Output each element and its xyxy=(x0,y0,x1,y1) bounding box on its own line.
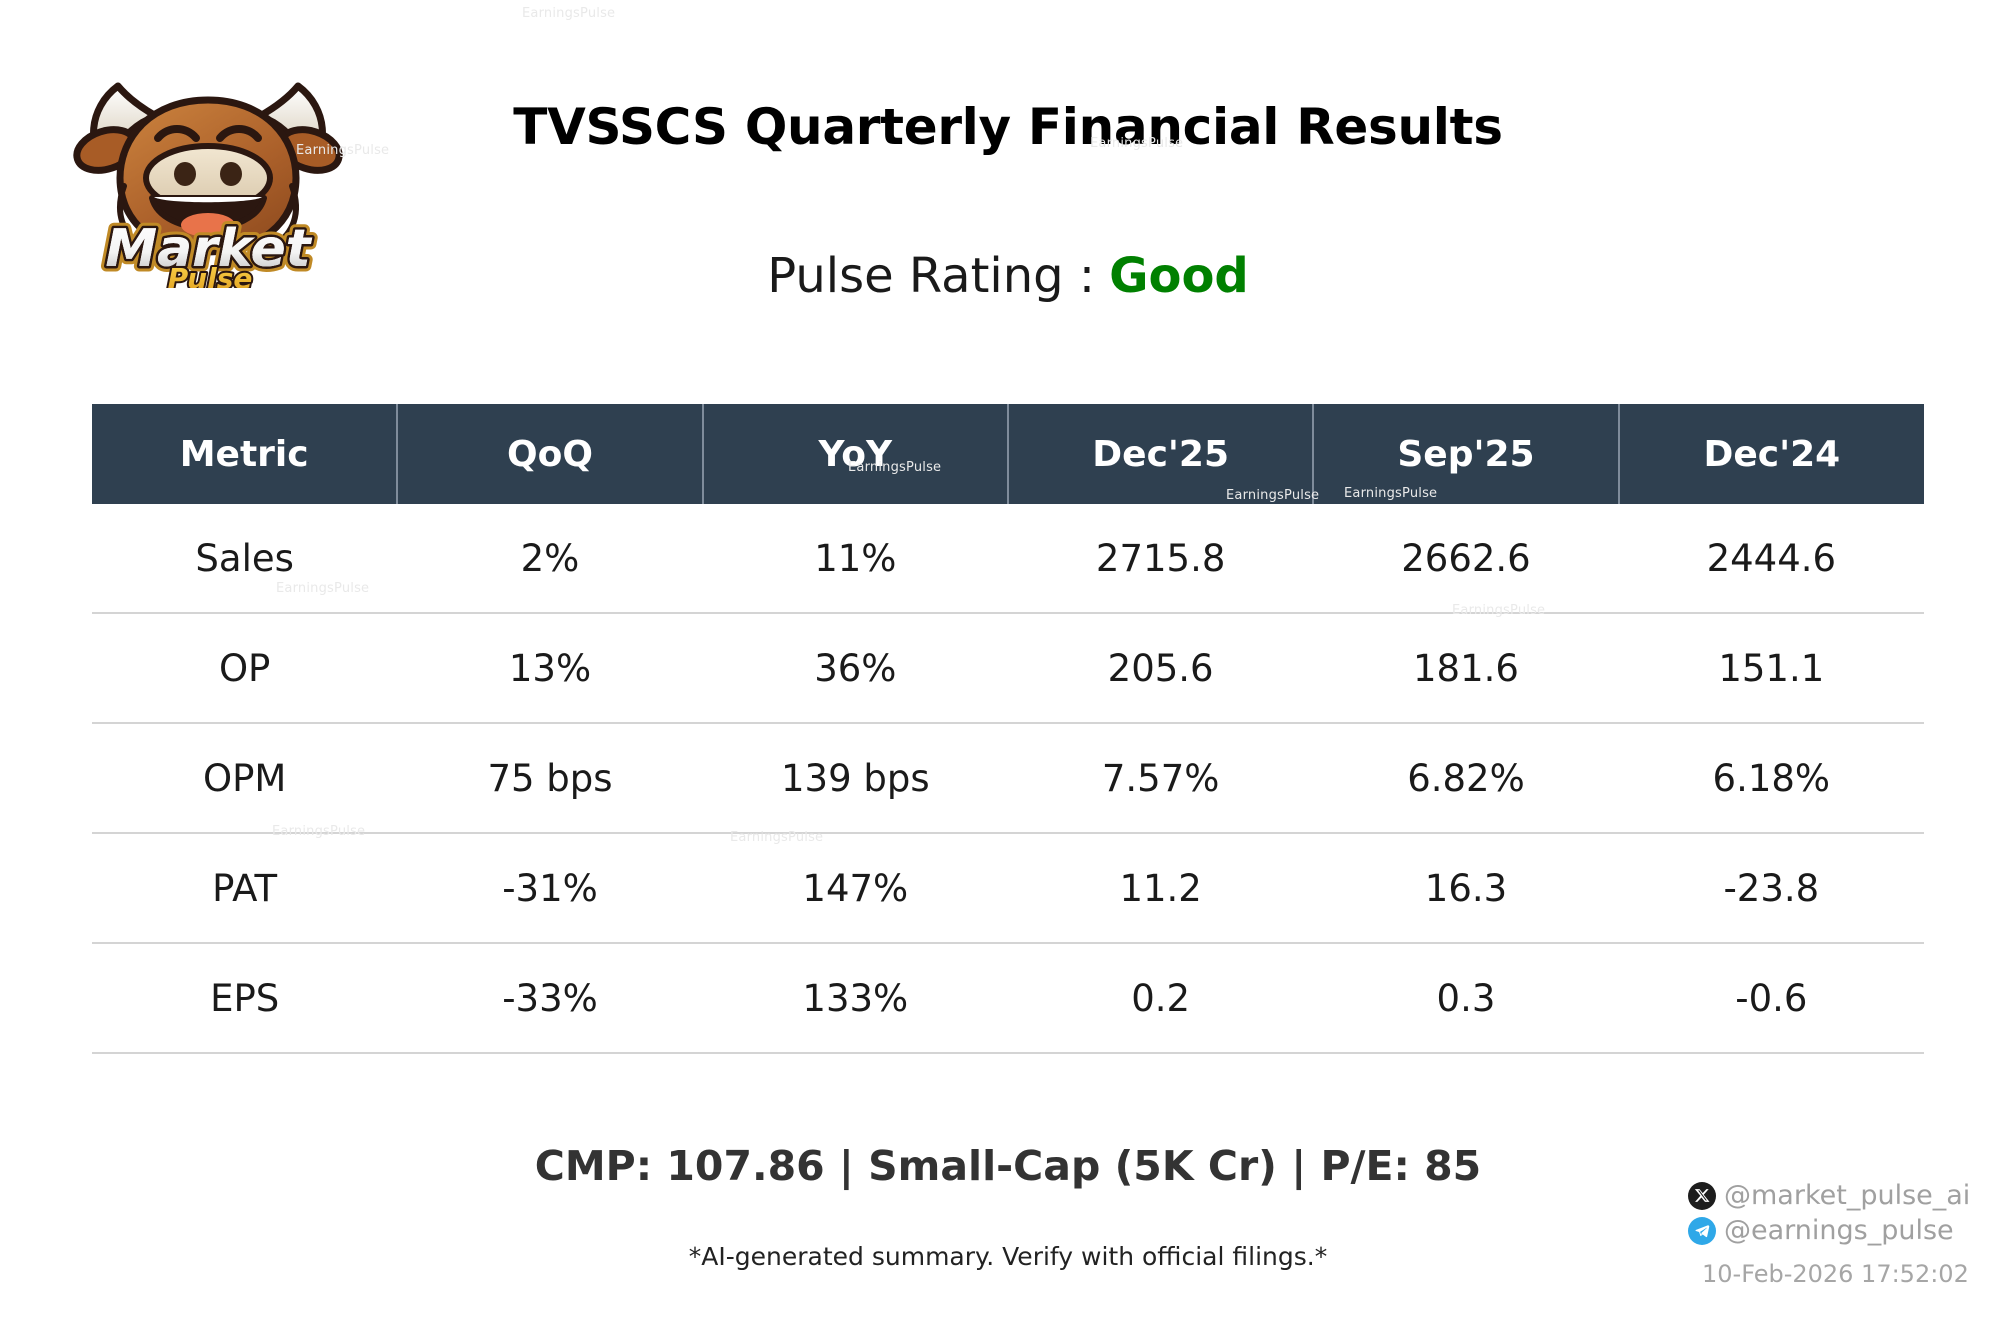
cell-qoq: -31% xyxy=(397,833,702,943)
cell-dec24: 2444.6 xyxy=(1619,504,1924,613)
cell-sep25: 16.3 xyxy=(1313,833,1618,943)
social-block: @market_pulse_ai @earnings_pulse 10-Feb-… xyxy=(1688,1178,1988,1288)
cell-sep25: 6.82% xyxy=(1313,723,1618,833)
table-row: OPM 75 bps 139 bps 7.57% 6.82% 6.18% xyxy=(92,723,1924,833)
metric-label: OP xyxy=(92,613,397,723)
watermark-text: EarningsPulse xyxy=(522,6,615,21)
cell-dec24: -0.6 xyxy=(1619,943,1924,1053)
cell-qoq: 75 bps xyxy=(397,723,702,833)
column-header-qoq: QoQ xyxy=(397,404,702,504)
cell-yoy: 11% xyxy=(703,504,1008,613)
cell-qoq: 13% xyxy=(397,613,702,723)
pulse-rating: Pulse Rating :Good xyxy=(0,248,2016,304)
cell-sep25: 181.6 xyxy=(1313,613,1618,723)
social-row-x[interactable]: @market_pulse_ai xyxy=(1688,1178,1988,1213)
metric-label: Sales xyxy=(92,504,397,613)
cell-dec24: 6.18% xyxy=(1619,723,1924,833)
cell-dec25: 2715.8 xyxy=(1008,504,1313,613)
metric-label: OPM xyxy=(92,723,397,833)
cell-yoy: 36% xyxy=(703,613,1008,723)
cell-dec25: 11.2 xyxy=(1008,833,1313,943)
cell-dec25: 7.57% xyxy=(1008,723,1313,833)
metric-label: EPS xyxy=(92,943,397,1053)
telegram-icon xyxy=(1688,1217,1716,1245)
financial-table: Metric QoQ YoY Dec'25 Sep'25 Dec'24 Sale… xyxy=(92,404,1924,1054)
x-twitter-icon xyxy=(1688,1182,1716,1210)
cell-yoy: 147% xyxy=(703,833,1008,943)
cell-dec25: 0.2 xyxy=(1008,943,1313,1053)
cell-yoy: 139 bps xyxy=(703,723,1008,833)
table-row: Sales 2% 11% 2715.8 2662.6 2444.6 xyxy=(92,504,1924,613)
social-handle-telegram: @earnings_pulse xyxy=(1724,1217,1954,1244)
pulse-rating-label: Pulse Rating : xyxy=(767,248,1095,304)
pulse-rating-value: Good xyxy=(1109,248,1249,304)
column-header-yoy: YoY xyxy=(703,404,1008,504)
social-row-telegram[interactable]: @earnings_pulse xyxy=(1688,1213,1988,1248)
cell-yoy: 133% xyxy=(703,943,1008,1053)
cell-sep25: 0.3 xyxy=(1313,943,1618,1053)
cell-sep25: 2662.6 xyxy=(1313,504,1618,613)
cell-qoq: -33% xyxy=(397,943,702,1053)
table-header-row: Metric QoQ YoY Dec'25 Sep'25 Dec'24 xyxy=(92,404,1924,504)
column-header-dec24: Dec'24 xyxy=(1619,404,1924,504)
cell-qoq: 2% xyxy=(397,504,702,613)
column-header-metric: Metric xyxy=(92,404,397,504)
cell-dec25: 205.6 xyxy=(1008,613,1313,723)
generated-timestamp: 10-Feb-2026 17:52:02 xyxy=(1702,1260,1988,1288)
column-header-dec25: Dec'25 xyxy=(1008,404,1313,504)
cell-dec24: 151.1 xyxy=(1619,613,1924,723)
column-header-sep25: Sep'25 xyxy=(1313,404,1618,504)
social-handle-x: @market_pulse_ai xyxy=(1724,1182,1970,1209)
table-row: OP 13% 36% 205.6 181.6 151.1 xyxy=(92,613,1924,723)
page-title: TVSSCS Quarterly Financial Results xyxy=(0,98,2016,156)
table-row: EPS -33% 133% 0.2 0.3 -0.6 xyxy=(92,943,1924,1053)
metric-label: PAT xyxy=(92,833,397,943)
table-row: PAT -31% 147% 11.2 16.3 -23.8 xyxy=(92,833,1924,943)
cell-dec24: -23.8 xyxy=(1619,833,1924,943)
